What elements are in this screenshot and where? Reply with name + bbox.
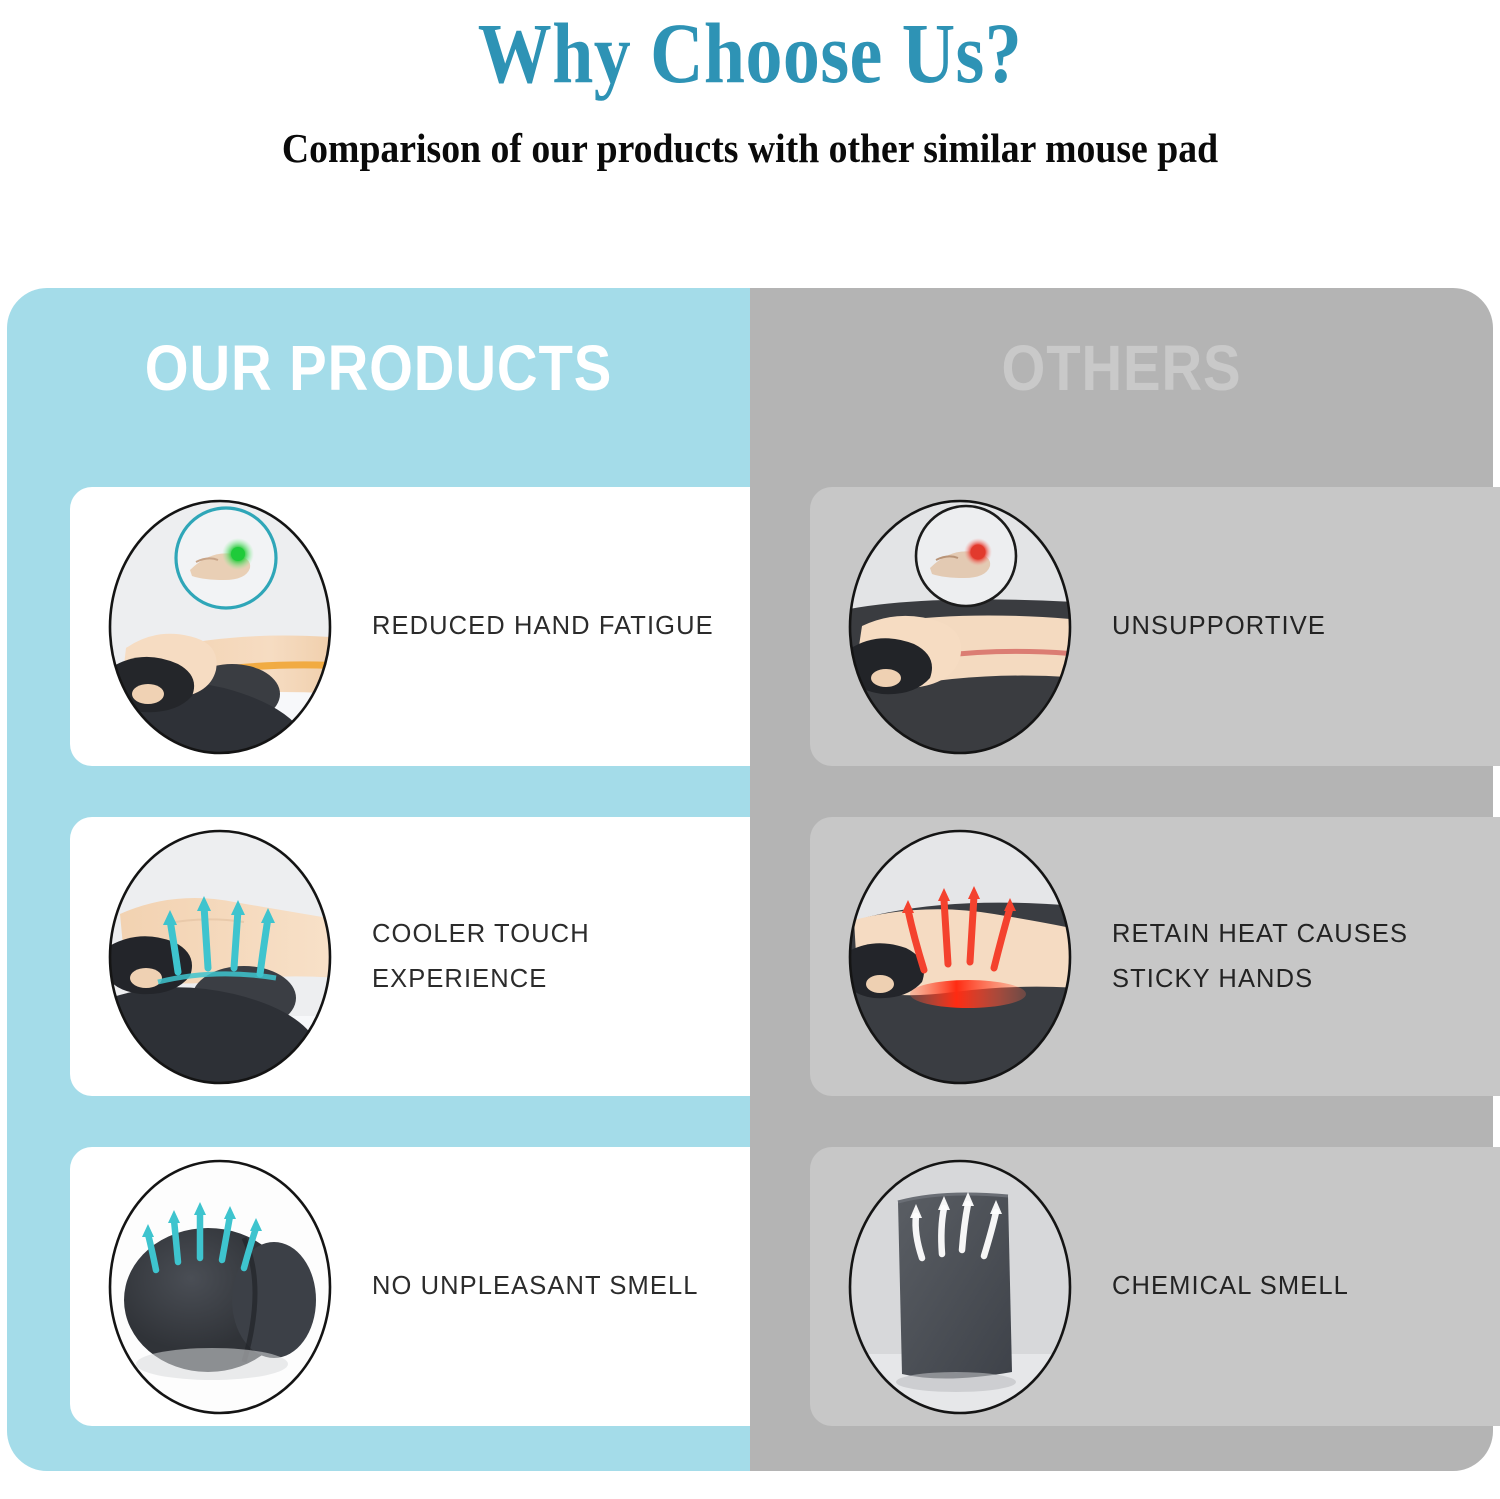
figure-hand-on-flat-mousepad-with-red-inset	[844, 498, 1076, 756]
page-title: Why Choose Us?	[105, 0, 1395, 98]
card-unsupportive[interactable]: UNSUPPORTIVE	[810, 487, 1500, 766]
card-cooler-touch-experience[interactable]: COOLER TOUCH EXPERIENCE	[70, 817, 813, 1096]
card-reduced-hand-fatigue[interactable]: REDUCED HAND FATIGUE	[70, 487, 813, 766]
figure-hand-on-mousepad-with-red-heat-arrows	[844, 828, 1076, 1086]
panel-heading-our-products: OUR PRODUCTS	[52, 336, 706, 400]
card-list-others: UNSUPPORTIVE	[750, 487, 1500, 1427]
card-label-chemical-smell: CHEMICAL SMELL	[1076, 1264, 1500, 1309]
hand-fatigue-illustration	[104, 498, 336, 756]
cooler-touch-illustration	[104, 828, 336, 1086]
figure-hand-on-mousepad-with-cool-airflow-arrows	[104, 828, 336, 1086]
card-label-line: COOLER TOUCH	[372, 912, 803, 957]
card-no-unpleasant-smell[interactable]: NO UNPLEASANT SMELL	[70, 1147, 813, 1426]
card-label-retain-heat-sticky-hands: RETAIN HEAT CAUSES STICKY HANDS	[1076, 912, 1500, 1001]
card-label-cooler-touch-experience: COOLER TOUCH EXPERIENCE	[336, 912, 813, 1001]
card-label-no-unpleasant-smell: NO UNPLEASANT SMELL	[336, 1264, 813, 1309]
panel-our-products: OUR PRODUCTS	[7, 288, 750, 1471]
card-label-unsupportive: UNSUPPORTIVE	[1076, 604, 1500, 649]
no-smell-illustration	[104, 1158, 336, 1416]
unsupportive-illustration	[844, 498, 1076, 756]
figure-hand-on-ergonomic-mousepad-with-green-inset	[104, 498, 336, 756]
page-subtitle: Comparison of our products with other si…	[60, 98, 1440, 171]
figure-flat-mousepad-with-white-fume-arrows	[844, 1158, 1076, 1416]
card-label-line: RETAIN HEAT CAUSES	[1112, 912, 1500, 957]
card-chemical-smell[interactable]: CHEMICAL SMELL	[810, 1147, 1500, 1426]
card-label-line: UNSUPPORTIVE	[1112, 604, 1500, 649]
card-label-reduced-hand-fatigue: REDUCED HAND FATIGUE	[336, 604, 813, 649]
panel-heading-others: OTHERS	[795, 336, 1449, 400]
card-label-line: EXPERIENCE	[372, 957, 803, 1002]
panel-others: OTHERS	[750, 288, 1493, 1471]
card-label-line: REDUCED HAND FATIGUE	[372, 604, 803, 649]
card-retain-heat-sticky-hands[interactable]: RETAIN HEAT CAUSES STICKY HANDS	[810, 817, 1500, 1096]
page-header: Why Choose Us? Comparison of our product…	[0, 0, 1500, 171]
comparison-container: OUR PRODUCTS	[7, 288, 1493, 1471]
card-label-line: NO UNPLEASANT SMELL	[372, 1264, 803, 1309]
card-label-line: STICKY HANDS	[1112, 957, 1500, 1002]
chemical-smell-illustration	[844, 1158, 1076, 1416]
card-label-line: CHEMICAL SMELL	[1112, 1264, 1500, 1309]
retain-heat-illustration	[844, 828, 1076, 1086]
figure-ergonomic-mousepad-with-fresh-air-arrows	[104, 1158, 336, 1416]
card-list-our-products: REDUCED HAND FATIGUE	[7, 487, 868, 1427]
